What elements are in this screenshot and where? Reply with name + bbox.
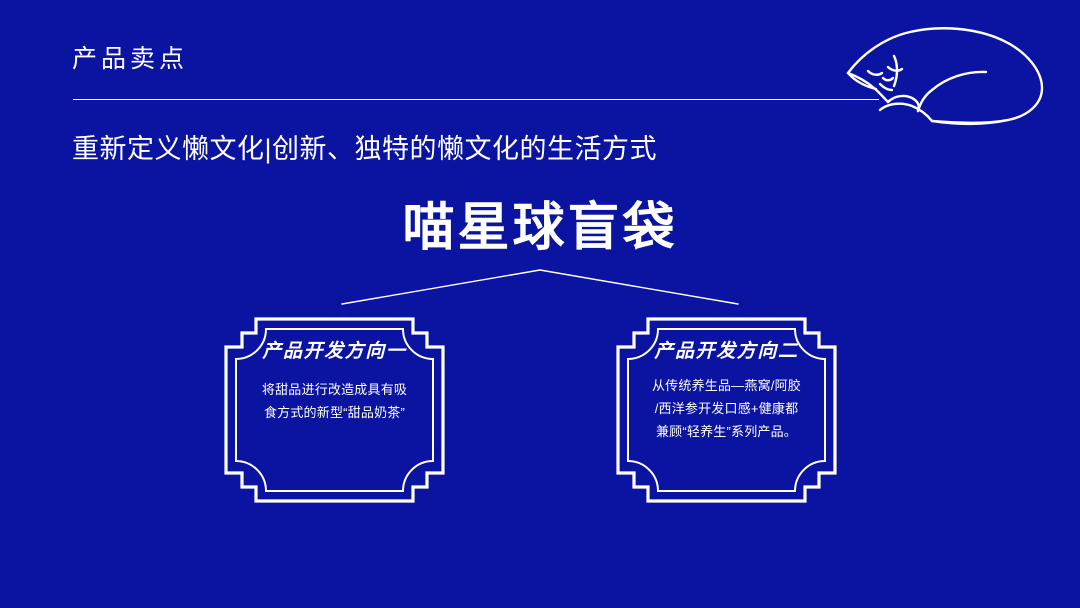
- badge-text-block: 产品开发方向一 将甜品进行改造成具有吸 食方式的新型“甜品奶茶”: [222, 315, 447, 505]
- badge-body-line: 食方式的新型“甜品奶茶”: [262, 402, 407, 425]
- presentation-slide: 产品卖点: [0, 0, 1080, 608]
- badge-title: 产品开发方向二: [654, 342, 798, 361]
- slide-eyebrow-heading: 产品卖点: [72, 47, 188, 72]
- slide-subtitle: 重新定义懒文化|创新、独特的懒文化的生活方式: [72, 133, 657, 165]
- badge-body-text: 将甜品进行改造成具有吸 食方式的新型“甜品奶茶”: [262, 379, 407, 425]
- badge-body-line: 从传统养生品—燕窝/阿胶: [652, 375, 801, 398]
- badge-body-line: /西洋参开发口感+健康都: [652, 398, 801, 421]
- product-direction-card-1: 产品开发方向一 将甜品进行改造成具有吸 食方式的新型“甜品奶茶”: [222, 315, 447, 505]
- slide-main-title: 喵星球盲袋: [0, 199, 1080, 259]
- badge-text-block: 产品开发方向二 从传统养生品—燕窝/阿胶 /西洋参开发口感+健康都 兼顾“轻养生…: [614, 315, 839, 505]
- badge-title: 产品开发方向一: [262, 342, 406, 361]
- badge-body-line: 将甜品进行改造成具有吸: [262, 379, 407, 402]
- sleeping-cat-icon: [836, 26, 1062, 128]
- badge-body-line: 兼顾“轻养生”系列产品。: [652, 421, 801, 444]
- badge-body-text: 从传统养生品—燕窝/阿胶 /西洋参开发口感+健康都 兼顾“轻养生”系列产品。: [652, 375, 801, 443]
- header-divider-rule: [73, 99, 879, 100]
- product-direction-card-2: 产品开发方向二 从传统养生品—燕窝/阿胶 /西洋参开发口感+健康都 兼顾“轻养生…: [614, 315, 839, 505]
